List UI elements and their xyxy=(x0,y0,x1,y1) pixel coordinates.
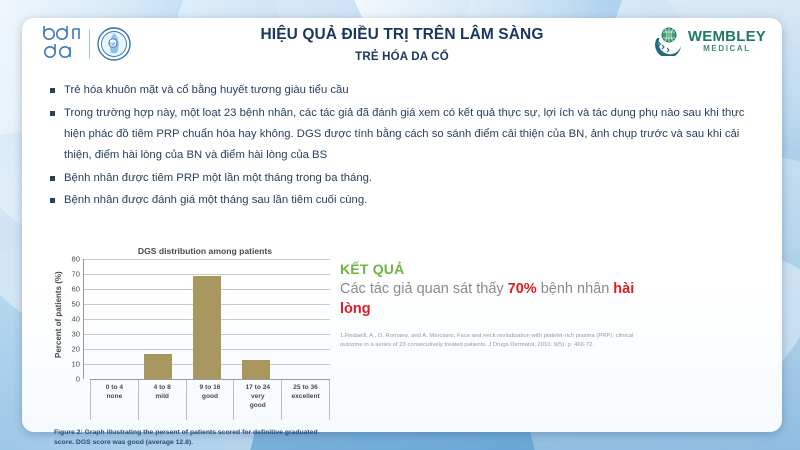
brand-name: WEMBLEY xyxy=(688,29,766,44)
chart-y-tick: 70 xyxy=(72,270,80,279)
list-item-text: Trong trường hợp này, một loạt 23 bệnh n… xyxy=(64,103,766,166)
chart-bar xyxy=(144,354,172,380)
result-highlight-percent: 70% xyxy=(508,281,537,297)
chart-x-category: 17 to 24verygood xyxy=(234,380,282,420)
chart-x-category-line: good xyxy=(187,393,234,402)
chart-x-category-line: good xyxy=(234,402,281,411)
chart-y-tick: 80 xyxy=(72,255,80,264)
wembley-globe-crescent-icon xyxy=(655,26,685,56)
chart-bar-cell xyxy=(133,259,182,379)
list-item: Trong trường hợp này, một loạt 23 bệnh n… xyxy=(50,103,766,166)
list-item: Bệnh nhân được tiêm PRP một lần một thán… xyxy=(50,168,766,189)
chart-y-tick: 60 xyxy=(72,285,80,294)
chart-x-category: 4 to 8mild xyxy=(139,380,187,420)
bullet-list: Trẻ hóa khuôn mặt và cổ bằng huyết tương… xyxy=(50,80,766,213)
result-text: Các tác giả quan sát thấy 70% bệnh nhân … xyxy=(340,279,640,320)
bullet-marker-icon xyxy=(50,111,55,116)
figure-caption: Figure 2: Graph illustrating the persent… xyxy=(54,428,330,448)
bullet-marker-icon xyxy=(50,176,55,181)
chart-bar xyxy=(242,360,270,380)
chart-x-category-line: 17 to 24 xyxy=(234,384,281,393)
chart-bar-cell xyxy=(281,259,330,379)
chart-bar-cell xyxy=(232,259,281,379)
chart-bars xyxy=(84,259,330,379)
chart-x-axis-categories: 0 to 4none4 to 8mild9 to 16good17 to 24v… xyxy=(90,379,330,420)
bullet-marker-icon xyxy=(50,198,55,203)
chart-y-tick: 50 xyxy=(72,300,80,309)
chart-y-tick: 40 xyxy=(72,315,80,324)
chart-x-category-line: 4 to 8 xyxy=(139,384,186,393)
chart-x-category-line: 25 to 36 xyxy=(282,384,329,393)
figure-block: DGS distribution among patients Percent … xyxy=(54,246,330,448)
chart-x-category: 25 to 36excellent xyxy=(282,380,330,420)
chart-y-axis-ticks: 01020304050607080 xyxy=(64,259,80,379)
chart-y-axis-label: Percent of patients (%) xyxy=(54,259,63,371)
chart-x-category-line: 9 to 16 xyxy=(187,384,234,393)
brand-tagline: MEDICAL xyxy=(688,45,766,53)
chart-x-category-line: excellent xyxy=(282,393,329,402)
wembley-medical-logo: WEMBLEY MEDICAL xyxy=(655,26,766,56)
citation-text: 1.Redaelli, A., D. Romano, and A. Marcia… xyxy=(340,332,640,351)
bullet-marker-icon xyxy=(50,88,55,93)
chart-x-category: 9 to 16good xyxy=(187,380,235,420)
slide-canvas: bgh HIỆU QUẢ ĐIỀU TRỊ TRÊN LÂM SÀNG TRẺ … xyxy=(0,0,800,450)
slide-content-card: bgh HIỆU QUẢ ĐIỀU TRỊ TRÊN LÂM SÀNG TRẺ … xyxy=(22,18,782,432)
chart-y-tick: 10 xyxy=(72,360,80,369)
chart-y-tick: 0 xyxy=(76,375,80,384)
list-item-text: Trẻ hóa khuôn mặt và cổ bằng huyết tương… xyxy=(64,80,766,101)
chart-bar-cell xyxy=(84,259,133,379)
chart-x-category-line: mild xyxy=(139,393,186,402)
chart-title: DGS distribution among patients xyxy=(80,246,330,256)
chart-x-category-line: none xyxy=(91,393,138,402)
chart-x-category: 0 to 4none xyxy=(90,380,139,420)
chart-y-tick: 20 xyxy=(72,345,80,354)
slide-header: bgh HIỆU QUẢ ĐIỀU TRỊ TRÊN LÂM SÀNG TRẺ … xyxy=(22,18,782,80)
chart-y-tick: 30 xyxy=(72,330,80,339)
list-item: Trẻ hóa khuôn mặt và cổ bằng huyết tương… xyxy=(50,80,766,101)
list-item-text: Bệnh nhân được tiêm PRP một lần một thán… xyxy=(64,168,766,189)
chart-bar-cell xyxy=(182,259,231,379)
chart-bar xyxy=(193,276,221,380)
result-heading: KẾT QUẢ xyxy=(340,261,640,277)
list-item-text: Bệnh nhân được đánh giá một tháng sau lầ… xyxy=(64,190,766,211)
result-block: KẾT QUẢ Các tác giả quan sát thấy 70% bệ… xyxy=(340,261,640,351)
chart-x-category-line: 0 to 4 xyxy=(91,384,138,393)
chart-plot xyxy=(83,259,330,379)
result-text-part1: Các tác giả quan sát thấy xyxy=(340,281,508,297)
chart-plot-area: Percent of patients (%) 0102030405060708… xyxy=(54,259,330,379)
wembley-wordmark: WEMBLEY MEDICAL xyxy=(688,29,766,53)
result-text-part2: bệnh nhân xyxy=(537,281,614,297)
list-item: Bệnh nhân được đánh giá một tháng sau lầ… xyxy=(50,190,766,211)
chart-x-category-line: very xyxy=(234,393,281,402)
